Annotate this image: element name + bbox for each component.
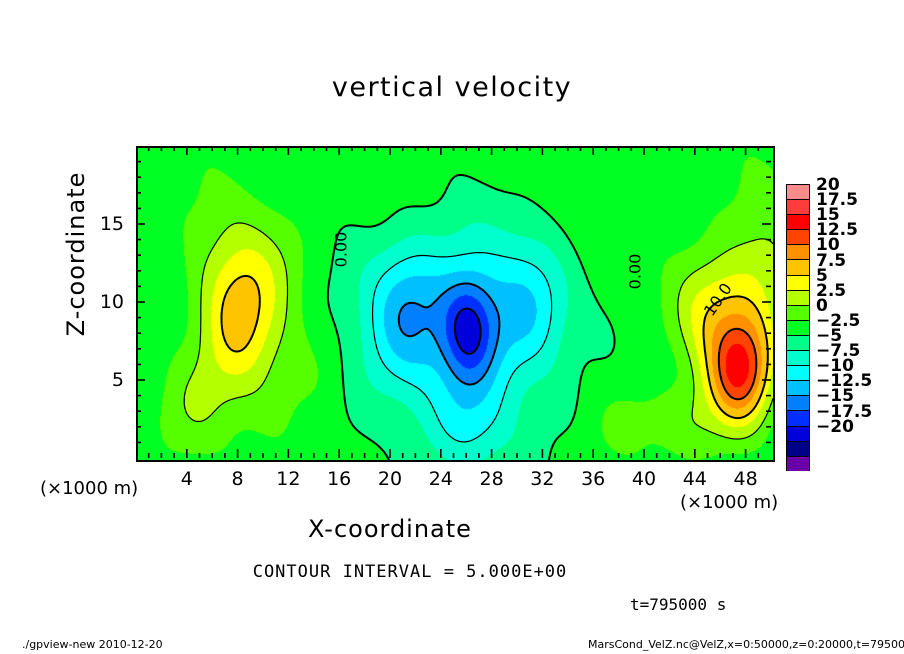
x-tick-label: 8 — [218, 468, 258, 490]
x-tick-label: 16 — [319, 468, 359, 490]
colorbar: 2017.51512.5107.552.50−2.5−5−7.5−10−12.5… — [786, 184, 810, 471]
contour-interval-text: CONTOUR INTERVAL = 5.000E+00 — [0, 562, 820, 582]
colorbar-swatch — [786, 229, 810, 244]
x-tick-label: 32 — [522, 468, 562, 490]
colorbar-swatch — [786, 259, 810, 274]
x-unit-left: (×1000 m) — [40, 478, 138, 499]
timestamp-text: t=795000 s — [630, 595, 726, 614]
x-tick-label: 12 — [268, 468, 308, 490]
x-unit-right: (×1000 m) — [680, 492, 778, 513]
y-tick-label: 10 — [84, 291, 124, 313]
colorbar-swatch — [786, 365, 810, 380]
contour-value-label: 0.00 — [625, 254, 644, 290]
y-tick-label: 15 — [84, 213, 124, 235]
colorbar-swatch — [786, 275, 810, 290]
footer-command: ./gpview-new 2010-12-20 — [22, 638, 163, 651]
y-axis-label: Z-coordinate — [62, 144, 90, 364]
colorbar-swatch — [786, 380, 810, 395]
colorbar-swatch — [786, 320, 810, 335]
colorbar-swatch — [786, 184, 810, 199]
colorbar-swatch — [786, 305, 810, 320]
colorbar-swatch — [786, 441, 810, 456]
axis-ticks — [130, 140, 790, 480]
x-tick-label: 24 — [421, 468, 461, 490]
y-tick-label: 5 — [84, 369, 124, 391]
contour-value-label: 0.00 — [331, 232, 350, 268]
colorbar-tick-label: −20 — [816, 417, 854, 437]
colorbar-swatch — [786, 214, 810, 229]
colorbar-swatch — [786, 395, 810, 410]
page-title: vertical velocity — [0, 72, 904, 103]
colorbar-swatch — [786, 199, 810, 214]
colorbar-swatch — [786, 335, 810, 350]
x-tick-label: 36 — [573, 468, 613, 490]
colorbar-swatch — [786, 410, 810, 425]
footer-datasource: MarsCond_VelZ.nc@VelZ,x=0:50000,z=0:2000… — [588, 638, 904, 651]
x-tick-label: 20 — [370, 468, 410, 490]
x-tick-label: 40 — [624, 468, 664, 490]
x-tick-label: 4 — [167, 468, 207, 490]
colorbar-swatch — [786, 290, 810, 305]
x-tick-label: 44 — [675, 468, 715, 490]
colorbar-swatch — [786, 426, 810, 441]
colorbar-swatch — [786, 244, 810, 259]
x-tick-label: 28 — [472, 468, 512, 490]
colorbar-swatch — [786, 456, 810, 471]
x-tick-label: 48 — [726, 468, 766, 490]
x-axis-label: X-coordinate — [0, 515, 780, 543]
colorbar-swatch — [786, 350, 810, 365]
